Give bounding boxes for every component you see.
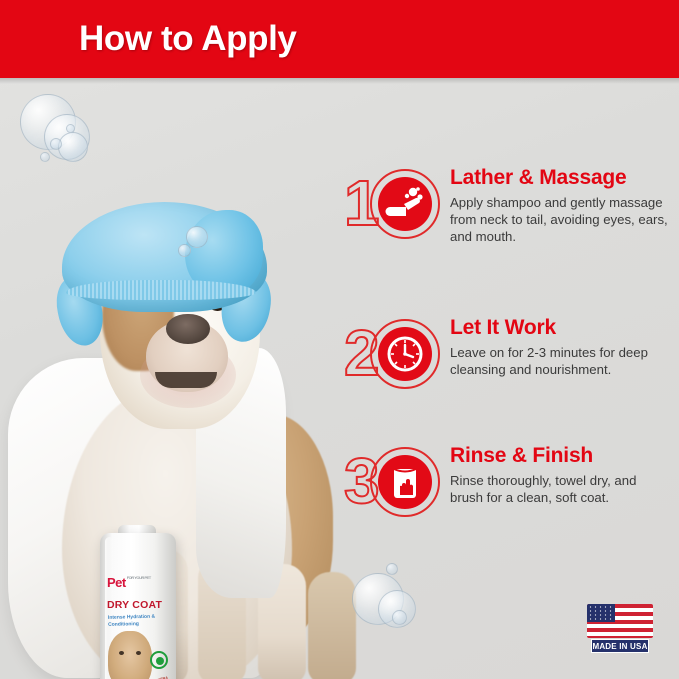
dog-mouth bbox=[155, 372, 217, 388]
soap-bubble bbox=[66, 124, 75, 133]
lathering-hand-icon bbox=[378, 177, 432, 231]
step-badge-3: 3 bbox=[344, 444, 438, 522]
product-subtitle: Intense Hydration & Conditioning bbox=[108, 613, 176, 629]
soap-bubble bbox=[186, 226, 208, 248]
step-body-1: Apply shampoo and gently massage from ne… bbox=[450, 194, 672, 245]
brand-name: Pet bbox=[107, 575, 126, 590]
soap-bubble bbox=[58, 132, 88, 162]
step-badge-1: 1 bbox=[344, 166, 438, 244]
product-name: DRY COAT bbox=[107, 599, 162, 611]
clock-icon bbox=[378, 327, 432, 381]
hand-towel-icon bbox=[378, 455, 432, 509]
step-body-3: Rinse thoroughly, towel dry, and brush f… bbox=[450, 472, 672, 506]
product-photo: PetFOR YOUR PET DRY COAT Intense Hydrati… bbox=[0, 84, 340, 679]
usa-flag-icon bbox=[587, 604, 653, 638]
dog-nose bbox=[166, 314, 210, 344]
made-in-usa-badge: MADE IN USA bbox=[587, 604, 653, 656]
step-title-3: Rinse & Finish bbox=[450, 444, 593, 468]
step-body-2: Leave on for 2-3 minutes for deep cleans… bbox=[450, 344, 672, 378]
product-bottle: PetFOR YOUR PET DRY COAT Intense Hydrati… bbox=[100, 533, 176, 679]
step-title-1: Lather & Massage bbox=[450, 166, 627, 190]
how-to-apply-infographic: How to Apply bbox=[0, 0, 679, 679]
step-title-2: Let It Work bbox=[450, 316, 556, 340]
flag-stars bbox=[588, 605, 614, 621]
made-in-usa-label: MADE IN USA bbox=[591, 639, 649, 653]
green-check-seal bbox=[150, 651, 168, 669]
bottle-dog-photo bbox=[108, 631, 152, 679]
soap-bubble bbox=[40, 152, 50, 162]
flag-canton bbox=[587, 604, 615, 622]
step-badge-2: 2 bbox=[344, 316, 438, 394]
steps-list: 1 Lather & Massage Apply shampoo and gen… bbox=[340, 84, 679, 679]
soap-bubble bbox=[178, 244, 191, 257]
brand-tagline: FOR YOUR PET bbox=[127, 576, 151, 580]
shower-cap-elastic-band bbox=[66, 280, 256, 300]
page-title: How to Apply bbox=[79, 19, 297, 59]
brand-logo: PetFOR YOUR PET bbox=[107, 575, 151, 590]
soap-bubble bbox=[50, 138, 62, 150]
